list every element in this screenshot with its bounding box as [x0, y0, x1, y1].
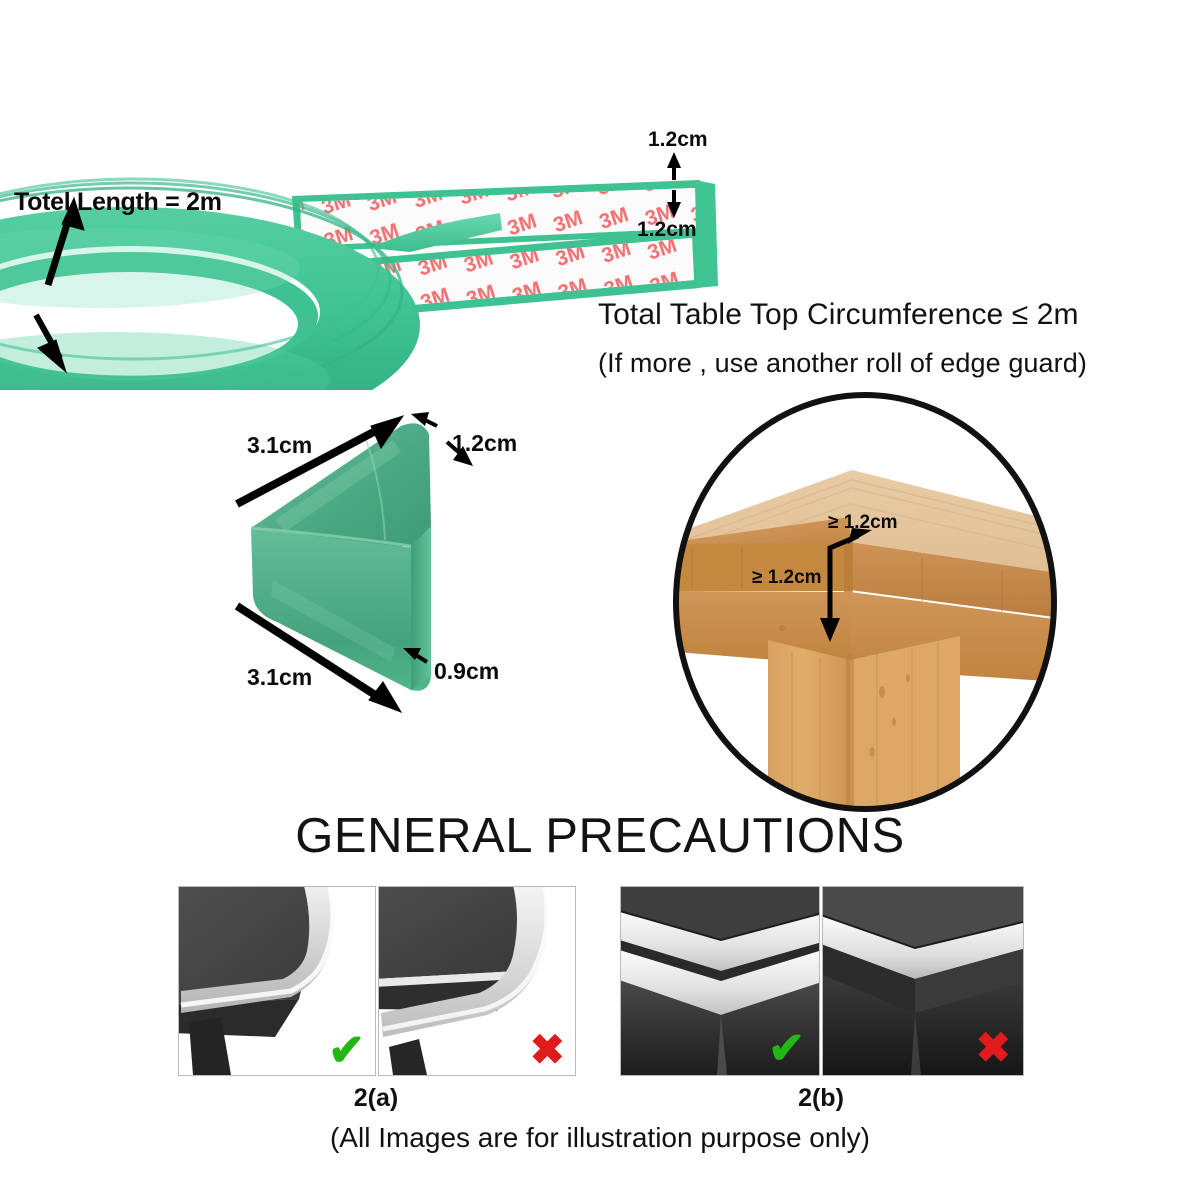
panel-2a-bad: ✖ — [378, 886, 576, 1076]
panel-2b-bad: ✖ — [822, 886, 1024, 1076]
check-icon: ✔ — [328, 1029, 365, 1073]
corner-length-top-label: 3.1cm — [247, 432, 312, 459]
precaution-panel-2a: ✔ — [178, 886, 574, 1116]
tape-width-top-label: 1.2cm — [648, 128, 708, 152]
panel-2a-good: ✔ — [178, 886, 376, 1076]
product-infographic: 3M — [0, 0, 1200, 1200]
illustration-disclaimer: (All Images are for illustration purpose… — [0, 1122, 1200, 1154]
circumference-headline: Total Table Top Circumference ≤ 2m — [598, 298, 1079, 332]
corner-width-label: 1.2cm — [452, 430, 517, 457]
tape-width-bottom-label: 1.2cm — [637, 218, 697, 242]
panel-2a-caption: 2(a) — [178, 1084, 574, 1113]
panel-2b-caption: 2(b) — [620, 1084, 1022, 1113]
corner-guard-thickness-face — [411, 526, 431, 690]
table-depth-label: ≥ 1.2cm — [752, 567, 822, 589]
circumference-subnote: (If more , use another roll of edge guar… — [598, 348, 1087, 379]
check-icon: ✔ — [768, 1027, 805, 1071]
table-corner-circle-photo — [672, 392, 1064, 816]
corner-length-bottom-label: 3.1cm — [247, 664, 312, 691]
cross-icon: ✖ — [976, 1027, 1011, 1069]
total-length-label: Totel Length = 2m — [14, 188, 222, 217]
tape-end-cap — [695, 180, 718, 288]
cross-icon: ✖ — [530, 1029, 565, 1071]
tape-height-arrows — [658, 150, 698, 225]
precaution-panel-2b: ✔ — [620, 886, 1022, 1116]
panel-2b-good: ✔ — [620, 886, 820, 1076]
table-corner-svg — [672, 392, 1064, 816]
page-title: GENERAL PRECAUTIONS — [0, 808, 1200, 864]
corner-thickness-label: 0.9cm — [434, 658, 499, 685]
table-thickness-label: ≥ 1.2cm — [828, 512, 898, 534]
